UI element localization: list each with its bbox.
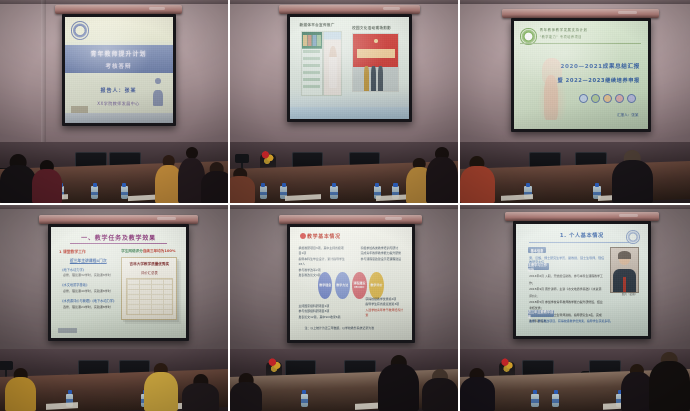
slide-diagram: 教学基本情况 承担教研项目3项，其中主持省级项目1项 指导本科生毕业设计，累计指… [290,227,412,340]
water-bottle [301,394,308,408]
attendee-person [32,158,62,203]
collage-panel-bottom-center[interactable]: 教学基本情况 承担教研项目3项，其中主持省级项目1项 指导本科生毕业设计，累计指… [230,205,460,411]
flower-arrangement [257,148,278,165]
room-foreground [0,349,228,411]
slide-title-line1: 青年教师提升计划 [65,49,173,58]
room-foreground [460,142,690,203]
slide-header-line2: "教学能力" 专项培养项目 [540,34,582,39]
slide-left-subheading: 近三年主讲课程4门次 [70,258,107,264]
list-item: 2014年6月 入职，开始担任助教，参与本科生课程教学工作； [529,273,603,286]
slide-right-heading-red: 连续三年均为100% [143,249,176,253]
speaker-silhouette-icon [153,78,163,105]
list-item: 2015年9月 晋升讲师，主讲《水文地质学基础》《水资源评价》； [529,286,603,299]
attendee-person [144,362,178,411]
slide-right-items: 积极参加各类教学培训与研讨 完成青年教师教学能力提升研修 参与课程思政建设示范课… [361,246,405,263]
certificate-subtitle: 评价汇总表 [127,270,172,275]
section-chip: 基本信息 [528,247,546,254]
slide-bullet-sub: 必修、理论课32学时，实验课8学时 [63,273,111,277]
screen-valance [505,212,660,221]
oval-diagram: 教学理念 教学方法 课程建设 MOOC 教学评价 [318,272,384,299]
slide-title: 一、教学任务及教学效果 [51,233,186,242]
flower-arrangement [497,355,518,372]
ceiling-seam [230,0,458,4]
slide-lower-right-items: 获得校级教学优秀奖2项 指导学生获省级竞赛奖3项 入选学校青年骨干教师培养计划 [365,297,405,319]
section-chip: 近三年主要教学成果 [528,310,554,317]
attendee-person [649,352,690,411]
projection-screen: 1. 个人基本情况 基本信息 男，汉族，博士研究生学历，副教授，硕士生导师，现任… [513,221,651,338]
slide-right-heading: 学生网络评分连续三年均为100% [121,249,175,254]
slide-left-heading: 1 课堂教学工作 [59,249,86,255]
attendee-person [426,147,458,203]
collage-panel-bottom-left[interactable]: 一、教学任务及教学效果 1 课堂教学工作 近三年主讲课程4门次 《地下水动力学》… [0,205,230,411]
room-foreground [0,142,228,203]
slide-bullet-sub: 选修、理论课24学时，实验课8学时 [63,305,111,309]
room-foreground [460,349,690,411]
room-foreground [230,349,458,411]
slide-floor-band [65,113,173,123]
screen-valance [39,215,197,224]
slide-footer-bar [71,106,88,113]
screen-valance [502,9,659,18]
ceiling-seam [460,0,690,4]
meeting-room-scene: 1. 个人基本情况 基本信息 男，汉族，博士研究生学历，副教授，硕士生导师，现任… [460,205,690,411]
attendee-person [201,160,230,203]
screen-valance [279,215,422,224]
attendee-person [230,371,262,411]
slide-footer-band [290,107,409,119]
slide-list-item: 承担教研项目3项，其中主持省级项目1项 [299,246,345,257]
portrait-photo [610,247,638,294]
oval-shape: 教学方法 [335,272,349,299]
screen-frame: 青年教师提升计划 考核答辩 报告人：张某 XX学院教师发展中心 [62,14,176,126]
slide-header: 青年教师教学发展支持计划 "教学能力" 专项培养项目 [520,27,641,44]
meeting-room-scene: 新媒体平台宣传推广 校园文化活动现场剪影 [230,0,458,203]
ceiling-seam [230,205,458,209]
slide-presenter: 汇报人：张某 [617,113,639,118]
attendee-person [460,154,495,203]
ceiling-seam [0,0,228,4]
attendee-person [422,368,458,411]
water-bottle [531,394,538,408]
attendee-person [5,367,37,411]
conference-table [460,161,690,205]
slide-lower-left-items: 主持国家级科研项目1项 参与省部级科研项目3项 发表论文12篇，其中SCI收录6… [299,304,348,321]
collage-panel-top-right[interactable]: 青年教师教学发展支持计划 "教学能力" 专项培养项目 2020—2021成果总结… [460,0,690,205]
slide-list-item: 指导本科生毕业设计，累计指导学生28人 [299,257,345,268]
meeting-room-scene: 青年教师提升计划 考核答辩 报告人：张某 XX学院教师发展中心 [0,0,228,203]
slide-watermark-tag [58,328,77,334]
portrait-caption: 照片（近期） [622,292,638,296]
oval-shape: 教学评价 [369,272,383,299]
app-screenshot-image [301,31,323,96]
screen-frame: 新媒体平台宣传推广 校园文化活动现场剪影 [287,14,412,122]
projection-screen: 青年教师提升计划 考核答辩 报告人：张某 XX学院教师发展中心 [62,14,176,126]
water-bottle [330,186,337,199]
attendee-person [182,373,218,411]
meeting-room-scene: 一、教学任务及教学效果 1 课堂教学工作 近三年主讲课程4门次 《地下水动力学》… [0,205,228,411]
slide-list-item-highlight: 入选学校青年骨干教师培养计划 [365,308,405,319]
slide-bullet: 《水资源评价与管理》《地下水动力学》 [60,298,116,303]
slide-header-line1: 青年教师教学发展支持计划 [540,27,588,32]
slide-icon-row [579,94,636,103]
projection-screen: 教学基本情况 承担教研项目3项，其中主持省级项目1项 指导本科生毕业设计，累计指… [287,224,415,343]
collage-panel-top-center[interactable]: 新媒体平台宣传推广 校园文化活动现场剪影 [230,0,460,205]
portrait-screenshot-image [323,31,342,96]
slide-bullet: 《地下水动力学》 [60,267,86,272]
collage-panel-top-left[interactable]: 青年教师提升计划 考核答辩 报告人：张某 XX学院教师发展中心 [0,0,230,205]
slide-title-line1: 2020—2021成果总结汇报 [561,62,640,70]
meeting-room-scene: 青年教师教学发展支持计划 "教学能力" 专项培养项目 2020—2021成果总结… [460,0,690,203]
attendee-person [612,149,653,203]
slide-bullet-sub: 必修、理论课40学时，实验课8学时 [63,289,111,293]
certificate-title: 吉林大学教学质量优秀奖 [127,262,172,267]
projection-screen: 新媒体平台宣传推广 校园文化活动现场剪影 [287,14,412,122]
slide-footer-note: 注：以上统计为近三年数据，以学校教务系统记录为准 [305,326,400,330]
projection-screen: 青年教师教学发展支持计划 "教学能力" 专项培养项目 2020—2021成果总结… [511,18,651,132]
event-banner-photo [352,33,399,92]
flower-arrangement [264,355,285,372]
slide-cover: 青年教师教学发展支持计划 "教学能力" 专项培养项目 2020—2021成果总结… [514,21,648,129]
university-seal-icon [626,230,640,244]
slide-label-right: 校园文化活动现场剪影 [352,26,391,31]
slide-personal-profile: 1. 个人基本情况 基本信息 男，汉族，博士研究生学历，副教授，硕士生导师，现任… [516,224,648,335]
screen-valance [279,5,419,14]
attendee-person [460,367,495,411]
screen-frame: 一、教学任务及教学效果 1 课堂教学工作 近三年主讲课程4门次 《地下水动力学》… [48,224,189,341]
ceiling-seam [460,205,690,209]
slide-list-item: 发表论文12篇，其中SCI收录6篇 [299,315,348,321]
wall-corner-line [41,0,46,146]
slide-teaching-tasks: 一、教学任务及教学效果 1 课堂教学工作 近三年主讲课程4门次 《地下水动力学》… [51,227,186,338]
slide-media-examples: 新媒体平台宣传推广 校园文化活动现场剪影 [290,17,409,119]
section-chip: 主要学习工作经历 [528,263,549,270]
slide-label-left: 新媒体平台宣传推广 [300,23,335,28]
screen-frame: 1. 个人基本情况 基本信息 男，汉族，博士研究生学历，副教授，硕士生导师，现任… [513,221,651,338]
slide-footer-note: 主持、参与教改项目，获得校级教学优秀奖，指导学生获奖多项。 [529,319,624,323]
attendee-person [230,165,255,203]
meeting-room-scene: 教学基本情况 承担教研项目3项，其中主持省级项目1项 指导本科生毕业设计，累计指… [230,205,458,411]
slide-bullet: 《水文地质学基础》 [60,282,89,287]
oval-shape: 课程建设 MOOC [352,272,366,299]
screen-frame: 教学基本情况 承担教研项目3项，其中主持省级项目1项 指导本科生毕业设计，累计指… [287,224,415,343]
oval-shape: 教学理念 [318,272,332,299]
projection-screen: 一、教学任务及教学效果 1 课堂教学工作 近三年主讲课程4门次 《地下水动力学》… [48,224,189,341]
screen-frame: 青年教师教学发展支持计划 "教学能力" 专项培养项目 2020—2021成果总结… [511,18,651,132]
attendee-person [378,354,419,411]
slide-list-item: 参与课程思政建设示范课程建设 [361,257,405,263]
water-bottle [260,186,267,199]
slide-title: 教学基本情况 [307,233,341,240]
slide-title: 青年教师提升计划 考核答辩 报告人：张某 XX学院教师发展中心 [65,17,173,123]
slide-title-line2: 暨 2022—2023继续培养申报 [557,77,639,84]
slide-right-heading-green: 学生网络评分 [121,249,143,253]
water-bottle [91,186,98,199]
room-foreground [230,142,458,203]
water-bottle [552,394,559,408]
photo-collage: 青年教师提升计划 考核答辩 报告人：张某 XX学院教师发展中心 [0,0,690,411]
screen-valance [55,5,183,14]
university-emblem-icon [71,21,89,39]
decoration-icon [300,233,306,239]
slide-title-line2: 考核答辩 [65,62,173,70]
certificate-image: 吉林大学教学质量优秀奖 评价汇总表 [121,257,177,320]
ceiling-seam [0,205,228,209]
collage-panel-bottom-right[interactable]: 1. 个人基本情况 基本信息 男，汉族，博士研究生学历，副教授，硕士生导师，现任… [460,205,690,411]
